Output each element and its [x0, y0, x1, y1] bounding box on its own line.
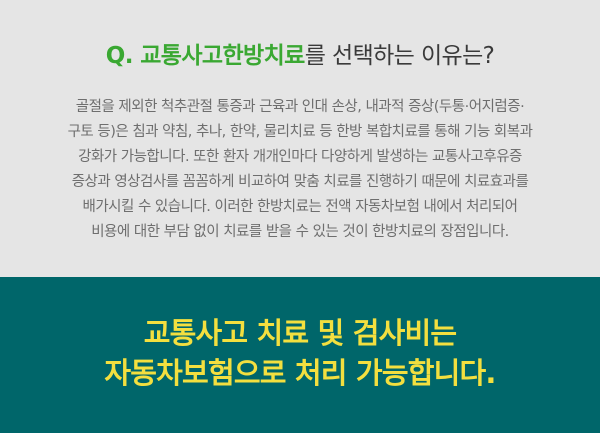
description-line: 골절을 제외한 척추관절 통증과 근육과 인대 손상, 내과적 증상(두통·어지… [16, 95, 584, 120]
question-marker: Q. [106, 43, 133, 69]
description-paragraph: 골절을 제외한 척추관절 통증과 근육과 인대 손상, 내과적 증상(두통·어지… [16, 71, 584, 245]
highlight-banner: 교통사고 치료 및 검사비는 자동차보험으로 처리 가능합니다. [0, 277, 600, 433]
promo-card: Q. 교통사고한방치료를 선택하는 이유는? 골절을 제외한 척추관절 통증과 … [0, 0, 600, 433]
banner-headline-line-1: 교통사고 치료 및 검사비는 [144, 313, 457, 353]
question-remainder: 를 선택하는 이유는? [305, 43, 495, 69]
description-line: 배가시킬 수 있습니다. 이러한 한방치료는 전액 자동차보험 내에서 처리되어 [16, 195, 584, 220]
description-line: 강화가 가능합니다. 또한 환자 개개인마다 다양하게 발생하는 교통사고후유증 [16, 145, 584, 170]
banner-headline-line-2: 자동차보험으로 처리 가능합니다. [104, 353, 495, 393]
description-line: 증상과 영상검사를 꼼꼼하게 비교하여 맞춤 치료를 진행하기 때문에 치료효과… [16, 170, 584, 195]
question-info-panel: Q. 교통사고한방치료를 선택하는 이유는? 골절을 제외한 척추관절 통증과 … [0, 0, 600, 277]
description-line: 비용에 대한 부담 없이 치료를 받을 수 있는 것이 한방치료의 장점입니다. [16, 220, 584, 245]
page-title: Q. 교통사고한방치료를 선택하는 이유는? [16, 0, 584, 71]
description-line: 구토 등)은 침과 약침, 추나, 한약, 물리치료 등 한방 복합치료를 통해… [16, 120, 584, 145]
question-keyword: 교통사고한방치료 [133, 43, 305, 69]
